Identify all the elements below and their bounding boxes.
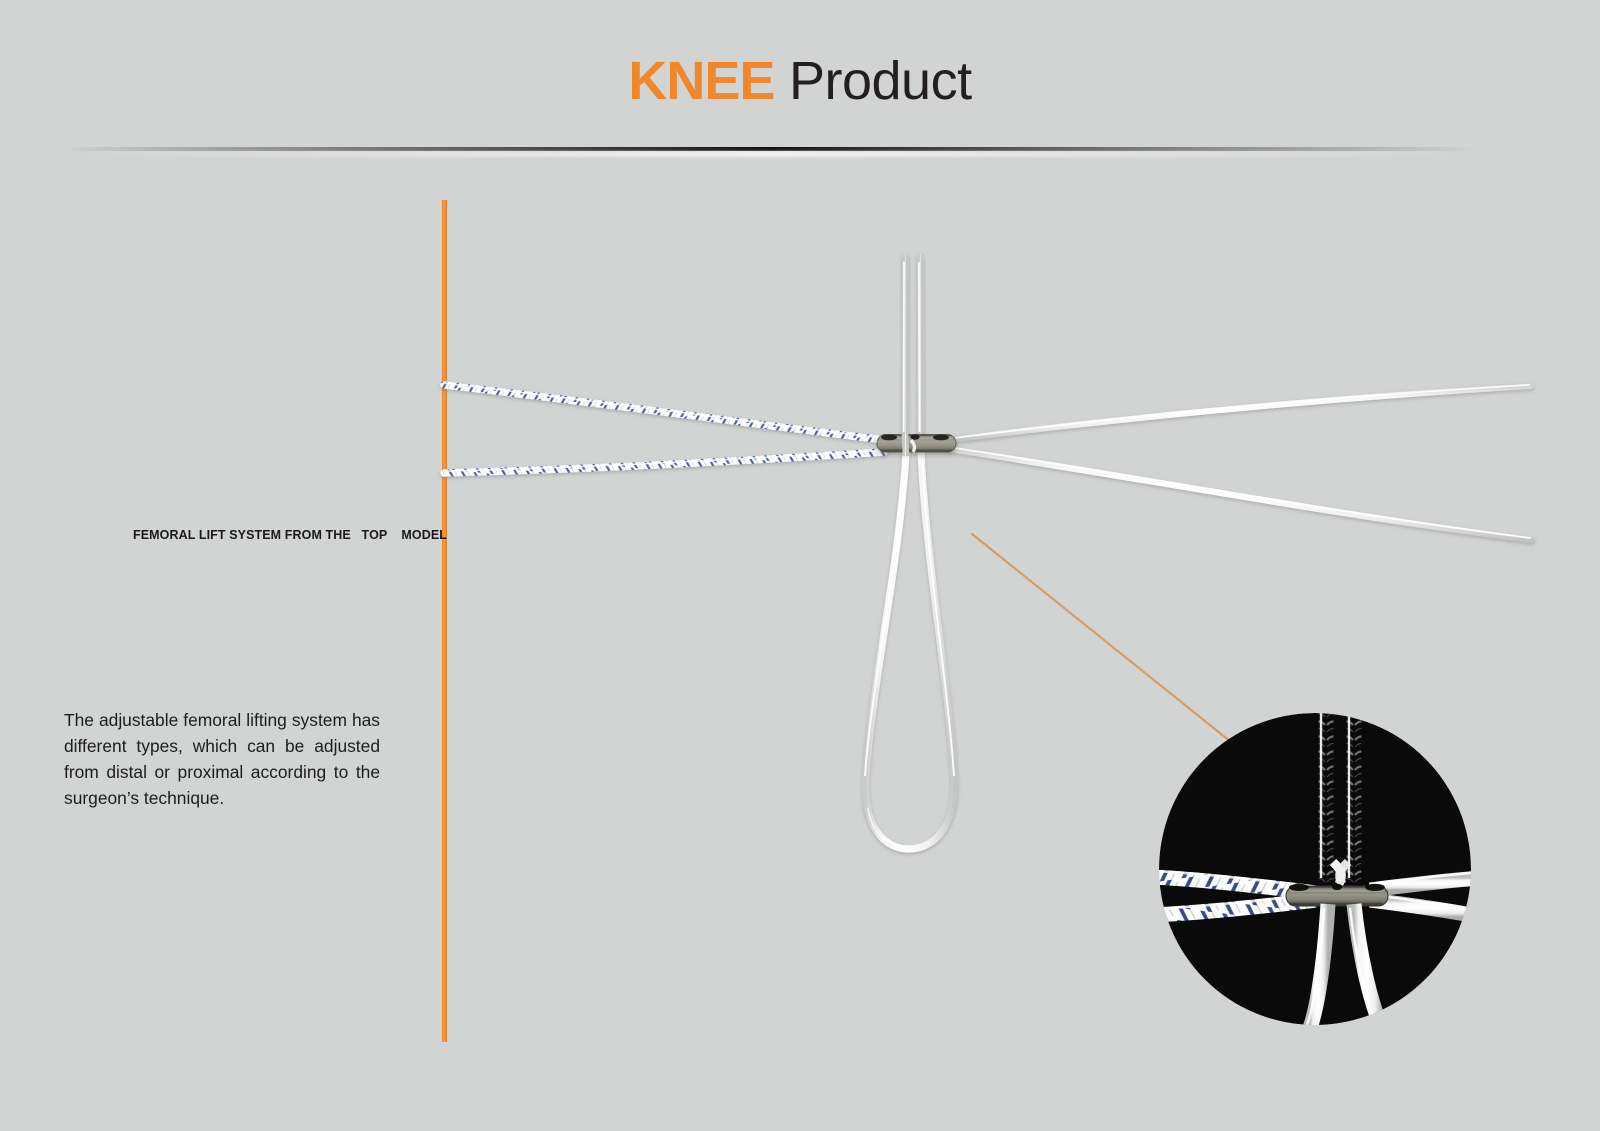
vertical-suture-pair-top	[904, 258, 921, 437]
magnified-detail-circle	[1158, 712, 1472, 1026]
white-suture-lower-right	[950, 448, 1532, 540]
striped-suture-upper-left	[444, 383, 884, 440]
metal-button-plate	[877, 434, 956, 452]
inset-edge-suture	[1158, 998, 1204, 1026]
white-suture-upper-right	[950, 385, 1531, 440]
inset-clip-group	[1158, 712, 1472, 1026]
striped-suture-lower-left	[444, 450, 884, 473]
poster-page: KNEE Product FEMORAL LIFT SYSTEM FROM TH…	[0, 0, 1600, 1131]
callout-leader-line	[972, 534, 1231, 742]
inset-metal-button-plate	[1286, 884, 1388, 906]
suture-loop-bottom	[865, 452, 954, 849]
